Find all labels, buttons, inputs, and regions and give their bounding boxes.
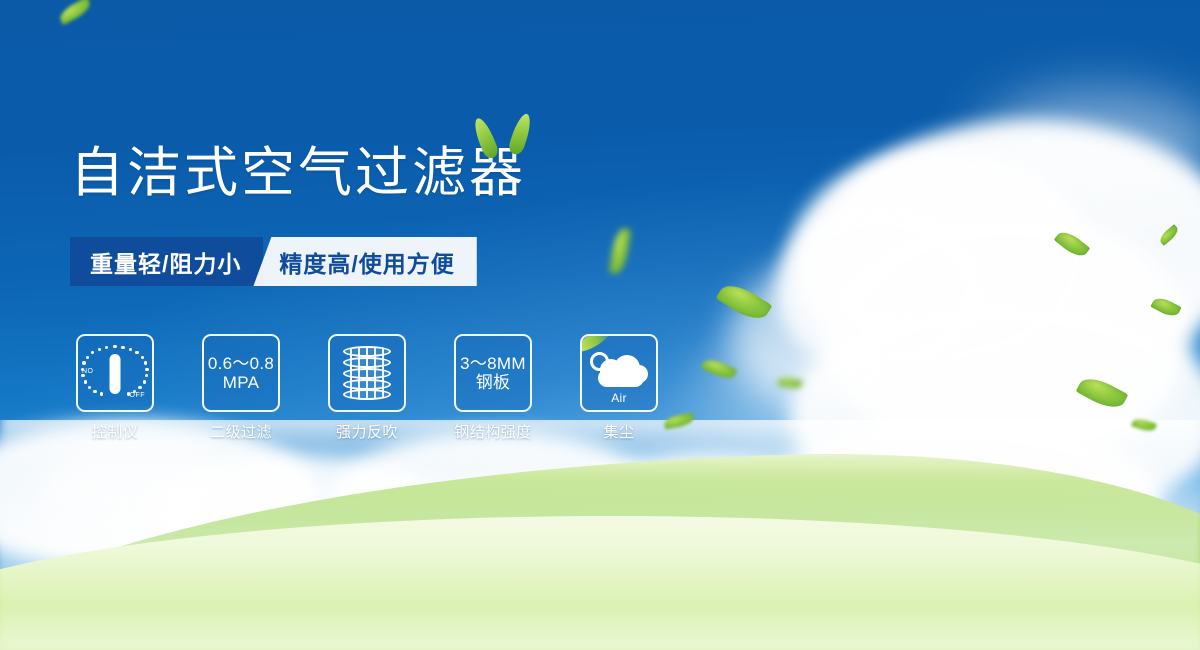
cloud-shape xyxy=(700,330,960,420)
feature-label: 强力反吹 xyxy=(336,421,398,442)
feature-icon-box: 3～8MM 钢板 xyxy=(454,334,532,412)
pressure-text-icon: 0.6～0.8 MPA xyxy=(208,354,274,392)
feature-icon-box: NO OFF xyxy=(76,334,154,412)
gauge-off-label: OFF xyxy=(130,392,146,399)
grass-field xyxy=(0,420,1200,650)
gauge-on-label: NO xyxy=(82,368,94,375)
steel-plate-text-icon: 3～8MM 钢板 xyxy=(460,354,526,392)
feature-icon-box: 0.6～0.8 MPA xyxy=(202,334,280,412)
feature-label: 钢结构强度 xyxy=(454,421,532,442)
feature-list: NO OFF 控制仪 0.6～0.8 MPA 二级过滤 xyxy=(70,334,664,442)
hill-highlight xyxy=(0,480,1200,650)
pressure-line-2: MPA xyxy=(208,373,274,392)
subtitle-right: 精度高/使用方便 xyxy=(253,237,476,286)
filter-stack-icon xyxy=(340,344,394,402)
subtitle-left: 重量轻/阻力小 xyxy=(70,237,263,286)
air-cloud-icon: Air xyxy=(586,343,652,403)
gauge-icon: NO OFF xyxy=(83,341,147,405)
subtitle-bar: 重量轻/阻力小 精度高/使用方便 xyxy=(70,237,477,286)
feature-label: 控制仪 xyxy=(92,421,139,442)
feature-icon-box: Air xyxy=(580,334,658,412)
steel-line-1: 3～8MM xyxy=(460,354,526,373)
feature-item-control-gauge[interactable]: NO OFF 控制仪 xyxy=(70,334,160,442)
feature-item-blowback[interactable]: 强力反吹 xyxy=(322,334,412,442)
feature-icon-box xyxy=(328,334,406,412)
feature-label: 集尘 xyxy=(603,421,634,442)
pressure-line-1: 0.6～0.8 xyxy=(208,354,274,373)
page-title: 自洁式空气过滤器 xyxy=(70,142,526,204)
feature-item-secondary-filter[interactable]: 0.6～0.8 MPA 二级过滤 xyxy=(196,334,286,442)
feature-item-steel-strength[interactable]: 3～8MM 钢板 钢结构强度 xyxy=(448,334,538,442)
steel-line-2: 钢板 xyxy=(460,373,526,392)
air-caption: Air xyxy=(586,391,652,405)
feature-label: 二级过滤 xyxy=(210,421,272,442)
gauge-needle xyxy=(110,354,121,394)
product-hero-banner: 自洁式空气过滤器 重量轻/阻力小 精度高/使用方便 xyxy=(0,0,1200,650)
feature-item-dust-collection[interactable]: Air 集尘 xyxy=(574,334,664,442)
